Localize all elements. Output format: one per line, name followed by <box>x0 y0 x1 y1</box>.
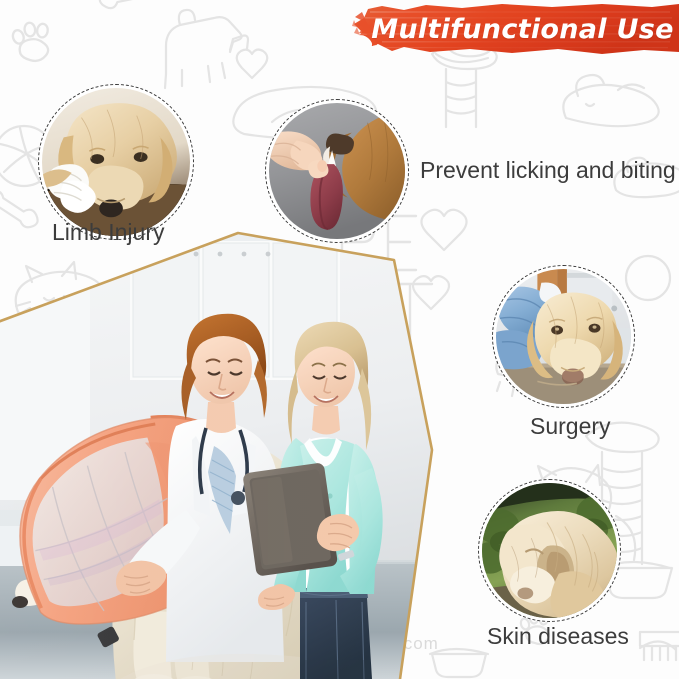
caption-prevent-licking: Prevent licking and biting <box>420 157 676 184</box>
infographic-canvas: Multifunctional Use <box>0 0 679 679</box>
skin-diseases-photo <box>482 483 617 618</box>
prevent-licking-photo <box>269 103 405 239</box>
page-title: Multifunctional Use <box>352 2 679 56</box>
surgery-photo <box>496 269 631 404</box>
caption-limb-injury: Limb Injury <box>52 219 164 246</box>
hero-photo-hexagon <box>0 210 446 679</box>
feature-bubble-prevent-licking[interactable] <box>265 99 409 243</box>
feature-bubble-skin-diseases[interactable] <box>478 479 621 622</box>
feature-bubble-surgery[interactable] <box>492 265 635 408</box>
title-banner: Multifunctional Use <box>352 2 679 56</box>
feature-bubble-limb-injury[interactable] <box>38 84 194 240</box>
caption-surgery: Surgery <box>530 413 611 440</box>
limb-injury-photo <box>42 88 190 236</box>
caption-skin-diseases: Skin diseases <box>487 623 629 650</box>
